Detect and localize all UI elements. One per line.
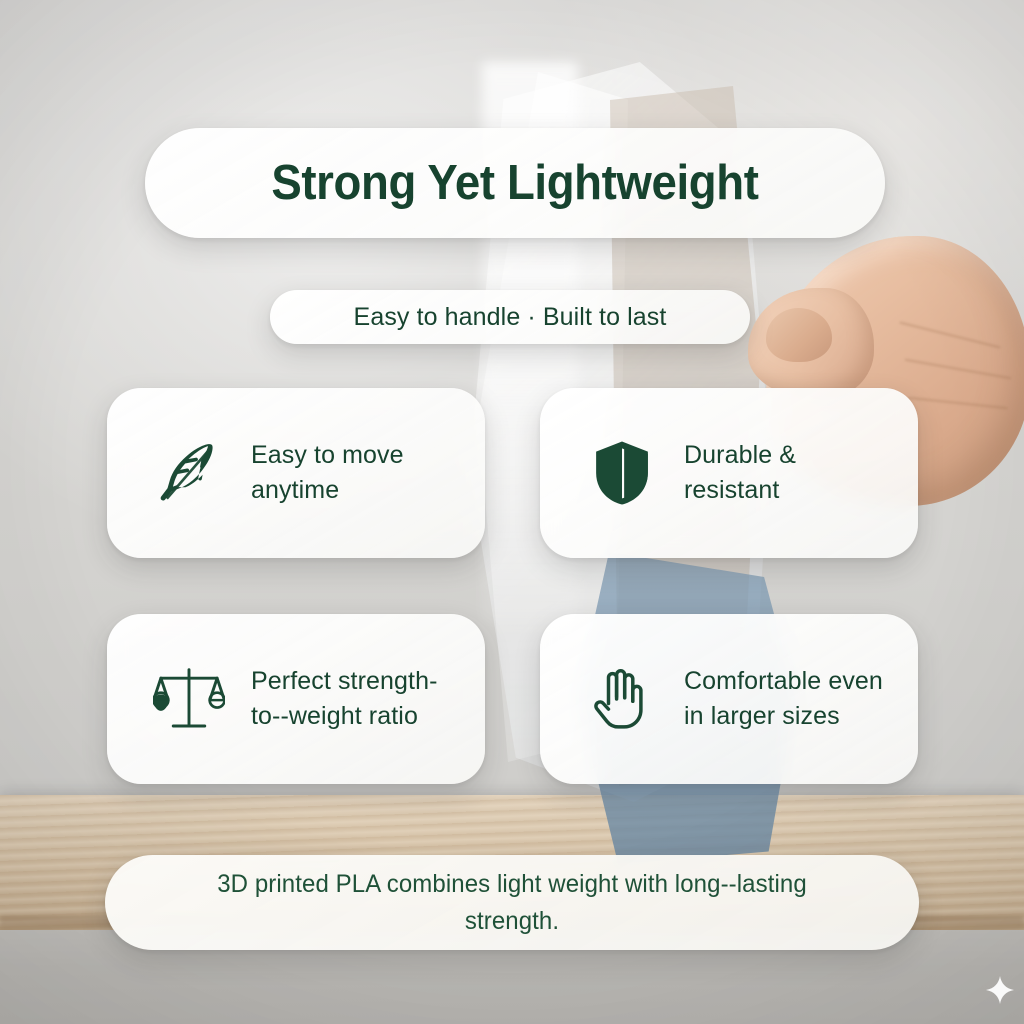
feature-label: Perfect strength-to--weight ratio [251,664,465,735]
title-pill: Strong Yet Lightweight [145,128,885,238]
balance-scale-icon [153,663,225,735]
feature-card-strength-ratio[interactable]: Perfect strength-to--weight ratio [107,614,485,784]
subtitle-pill: Easy to handle · Built to last [270,290,750,344]
footer-pill: 3D printed PLA combines light weight wit… [105,855,919,950]
sparkle-icon [986,976,1014,1004]
feature-label: Easy to move anytime [251,438,465,509]
shield-icon [586,437,658,509]
infographic-stage: Strong Yet Lightweight Easy to handle · … [0,0,1024,1024]
page-subtitle: Easy to handle · Built to last [354,303,667,332]
feather-icon [153,437,225,509]
feature-card-easy-to-move[interactable]: Easy to move anytime [107,388,485,558]
feature-card-durable[interactable]: Durable & resistant [540,388,918,558]
feature-label: Durable & resistant [684,438,898,509]
hand-icon [586,663,658,735]
footer-caption: 3D printed PLA combines light weight wit… [176,866,848,939]
page-title: Strong Yet Lightweight [271,155,758,211]
feature-label: Comfortable even in larger sizes [684,664,898,735]
feature-card-comfortable[interactable]: Comfortable even in larger sizes [540,614,918,784]
